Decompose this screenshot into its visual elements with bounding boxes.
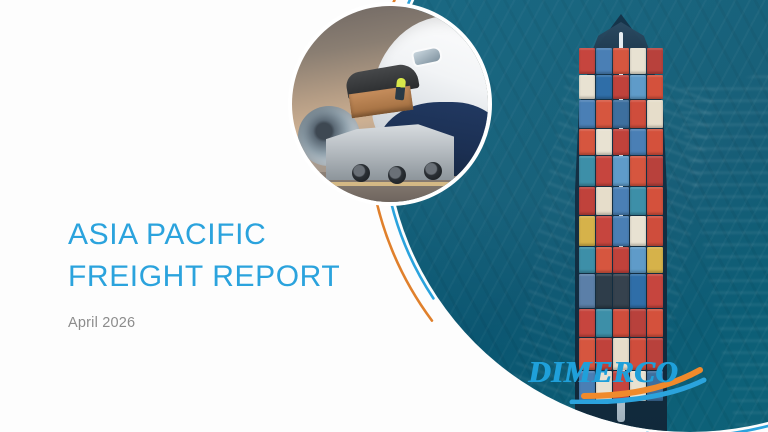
shipping-container (579, 129, 595, 155)
dimerco-logo: DIMERCO (524, 356, 710, 404)
air-cargo-loading-photo (292, 6, 488, 202)
container-row (579, 100, 663, 128)
report-date: April 2026 (68, 315, 340, 331)
container-row (579, 156, 663, 186)
shipping-container (630, 156, 646, 186)
container-row (579, 274, 663, 308)
shipping-container (579, 216, 595, 246)
loader-wheel (352, 164, 370, 182)
shipping-container (647, 247, 663, 273)
shipping-container (613, 100, 629, 128)
shipping-container (647, 129, 663, 155)
title-block: ASIA PACIFIC FREIGHT REPORT April 2026 (68, 214, 340, 331)
shipping-container (613, 129, 629, 155)
loader-wheel (388, 166, 406, 184)
shipping-container (630, 129, 646, 155)
shipping-container (647, 274, 663, 308)
shipping-container (596, 247, 612, 273)
shipping-container (579, 309, 595, 337)
shipping-container (613, 187, 629, 215)
shipping-container (647, 48, 663, 74)
shipping-container (613, 156, 629, 186)
shipping-container (647, 309, 663, 337)
shipping-container (647, 187, 663, 215)
shipping-container (596, 75, 612, 99)
tarmac-marking (292, 182, 488, 186)
shipping-container (613, 75, 629, 99)
shipping-container (596, 309, 612, 337)
shipping-container (630, 274, 646, 308)
container-row (579, 48, 663, 74)
shipping-container (647, 100, 663, 128)
container-row (579, 247, 663, 273)
shipping-container (596, 156, 612, 186)
shipping-container (613, 309, 629, 337)
shipping-container (579, 48, 595, 74)
shipping-container (579, 75, 595, 99)
shipping-container (613, 274, 629, 308)
shipping-container (579, 187, 595, 215)
shipping-container (630, 100, 646, 128)
shipping-container (630, 247, 646, 273)
shipping-container (596, 274, 612, 308)
shipping-container (596, 129, 612, 155)
shipping-container (579, 156, 595, 186)
shipping-container (596, 100, 612, 128)
shipping-container (630, 75, 646, 99)
dimerco-wordmark: DIMERCO (528, 354, 678, 390)
title-slide: ASIA PACIFIC FREIGHT REPORT April 2026 D… (0, 0, 768, 432)
shipping-container (647, 75, 663, 99)
container-row (579, 187, 663, 215)
page-title-line-1: ASIA PACIFIC (68, 214, 340, 256)
shipping-container (613, 247, 629, 273)
shipping-container (613, 216, 629, 246)
shipping-container (596, 48, 612, 74)
container-row (579, 309, 663, 337)
shipping-container (579, 247, 595, 273)
aircraft-wheel (424, 162, 442, 180)
shipping-container (596, 187, 612, 215)
shipping-container (630, 216, 646, 246)
container-row (579, 129, 663, 155)
page-title-line-2: FREIGHT REPORT (68, 256, 340, 298)
shipping-container (647, 216, 663, 246)
shipping-container (613, 48, 629, 74)
shipping-container (579, 274, 595, 308)
container-row (579, 75, 663, 99)
shipping-container (630, 48, 646, 74)
container-row (579, 216, 663, 246)
shipping-container (630, 187, 646, 215)
shipping-container (630, 309, 646, 337)
shipping-container (647, 156, 663, 186)
shipping-container (596, 216, 612, 246)
shipping-container (579, 100, 595, 128)
